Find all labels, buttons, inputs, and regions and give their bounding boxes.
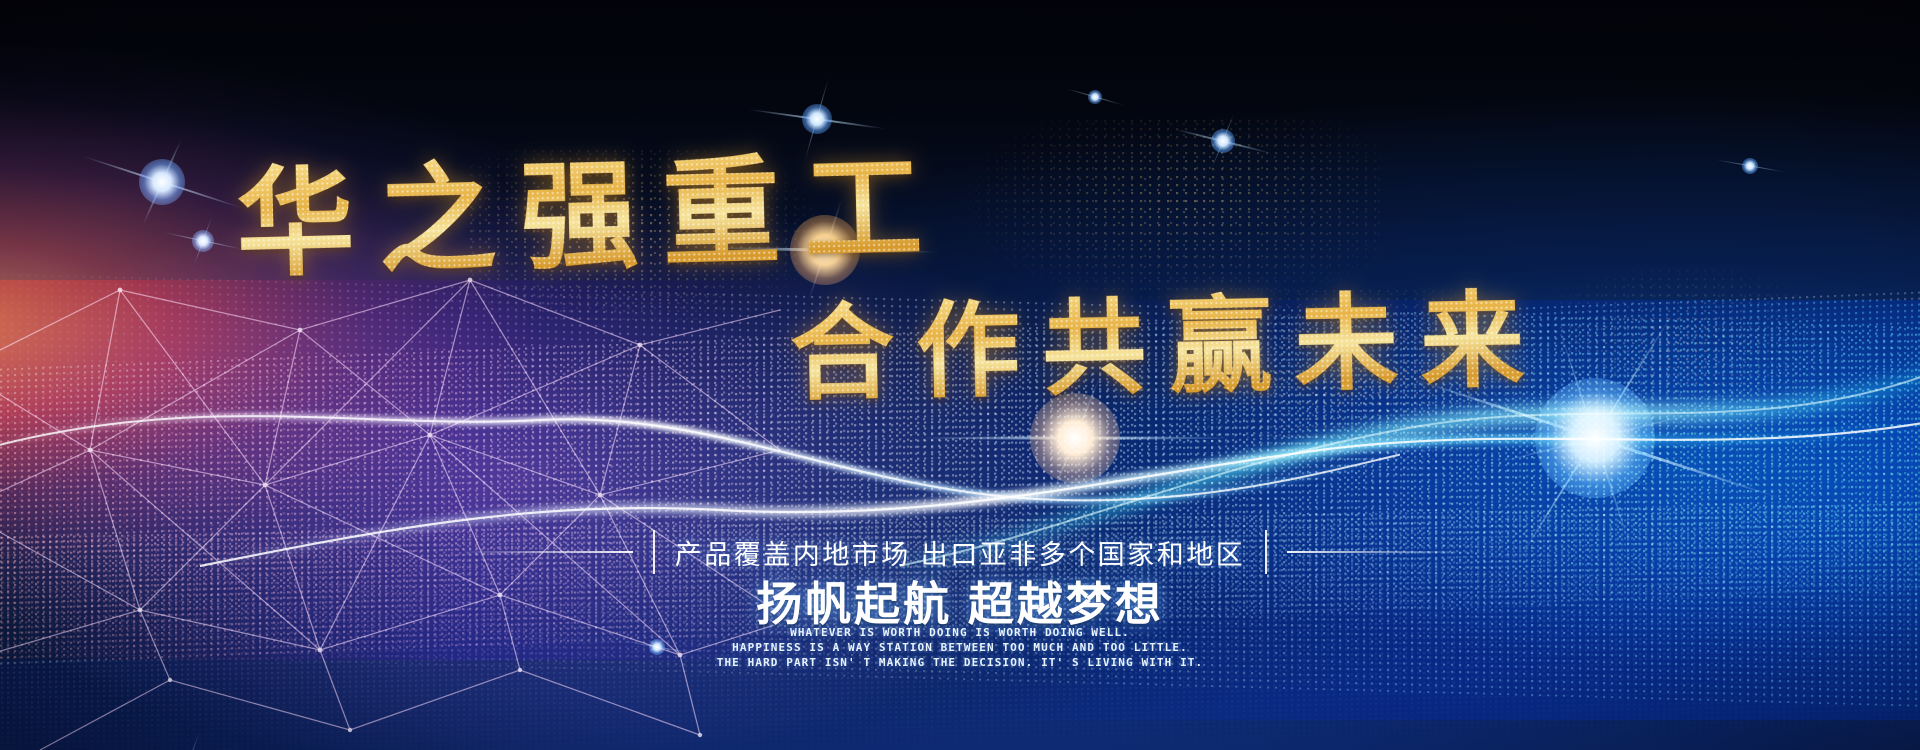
divider-rule-left <box>465 551 633 553</box>
english-line-3: THE HARD PART ISN' T MAKING THE DECISION… <box>0 655 1920 670</box>
star-sparkle-icon <box>128 704 248 750</box>
polygon-wireframe-net <box>0 250 780 750</box>
banner-canvas: 华之强重工 合作共赢未来 产品覆盖内地市场 出口亚非多个国家和地区 扬帆起航 超… <box>0 0 1920 750</box>
english-line-2: HAPPINESS IS A WAY STATION BETWEEN TOO M… <box>0 640 1920 655</box>
gold-dust-particles <box>1560 270 1860 430</box>
star-sparkle-icon <box>1168 86 1278 196</box>
subtitle-text: 产品覆盖内地市场 出口亚非多个国家和地区 <box>675 533 1246 572</box>
headline-line-2: 合作共赢未来 <box>789 255 1548 420</box>
english-line-1: WHATEVER IS WORTH DOING IS WORTH DOING W… <box>0 625 1920 640</box>
english-quote-block: WHATEVER IS WORTH DOING IS WORTH DOING W… <box>0 625 1920 670</box>
divider-rule-right <box>1287 551 1455 553</box>
star-sparkle-icon <box>1060 62 1130 132</box>
star-sparkle-icon <box>158 196 248 286</box>
star-sparkle-icon <box>1710 126 1790 206</box>
star-sparkle-icon <box>72 92 252 272</box>
